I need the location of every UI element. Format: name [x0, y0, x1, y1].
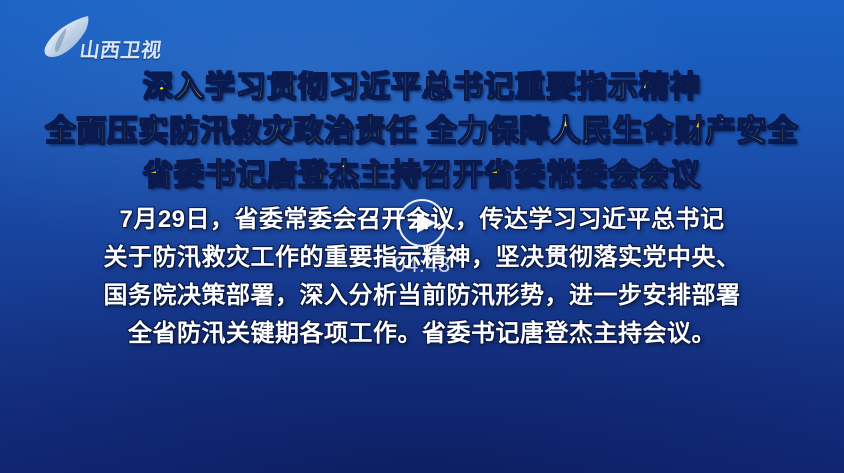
channel-logo: 山西卫视	[32, 12, 182, 64]
play-button[interactable]	[398, 199, 446, 247]
headline-line-1: 深入学习贯彻习近平总书记重要指示精神	[0, 66, 844, 110]
channel-wordmark: 山西卫视	[78, 34, 164, 63]
headline-line-2: 全面压实防汛救灾政治责任 全力保障人民生命财产安全	[0, 110, 844, 154]
headline-line-3: 省委书记唐登杰主持召开省委常委会会议	[0, 154, 844, 198]
play-triangle-icon	[417, 213, 436, 233]
headline-block: 深入学习贯彻习近平总书记重要指示精神 全面压实防汛救灾政治责任 全力保障人民生命…	[0, 66, 844, 198]
body-line-3: 国务院决策部署，深入分析当前防汛形势，进一步安排部署	[0, 277, 844, 315]
body-line-4: 全省防汛关键期各项工作。省委书记唐登杰主持会议。	[0, 315, 844, 353]
video-frame: 山西卫视 深入学习贯彻习近平总书记重要指示精神 全面压实防汛救灾政治责任 全力保…	[0, 0, 844, 473]
